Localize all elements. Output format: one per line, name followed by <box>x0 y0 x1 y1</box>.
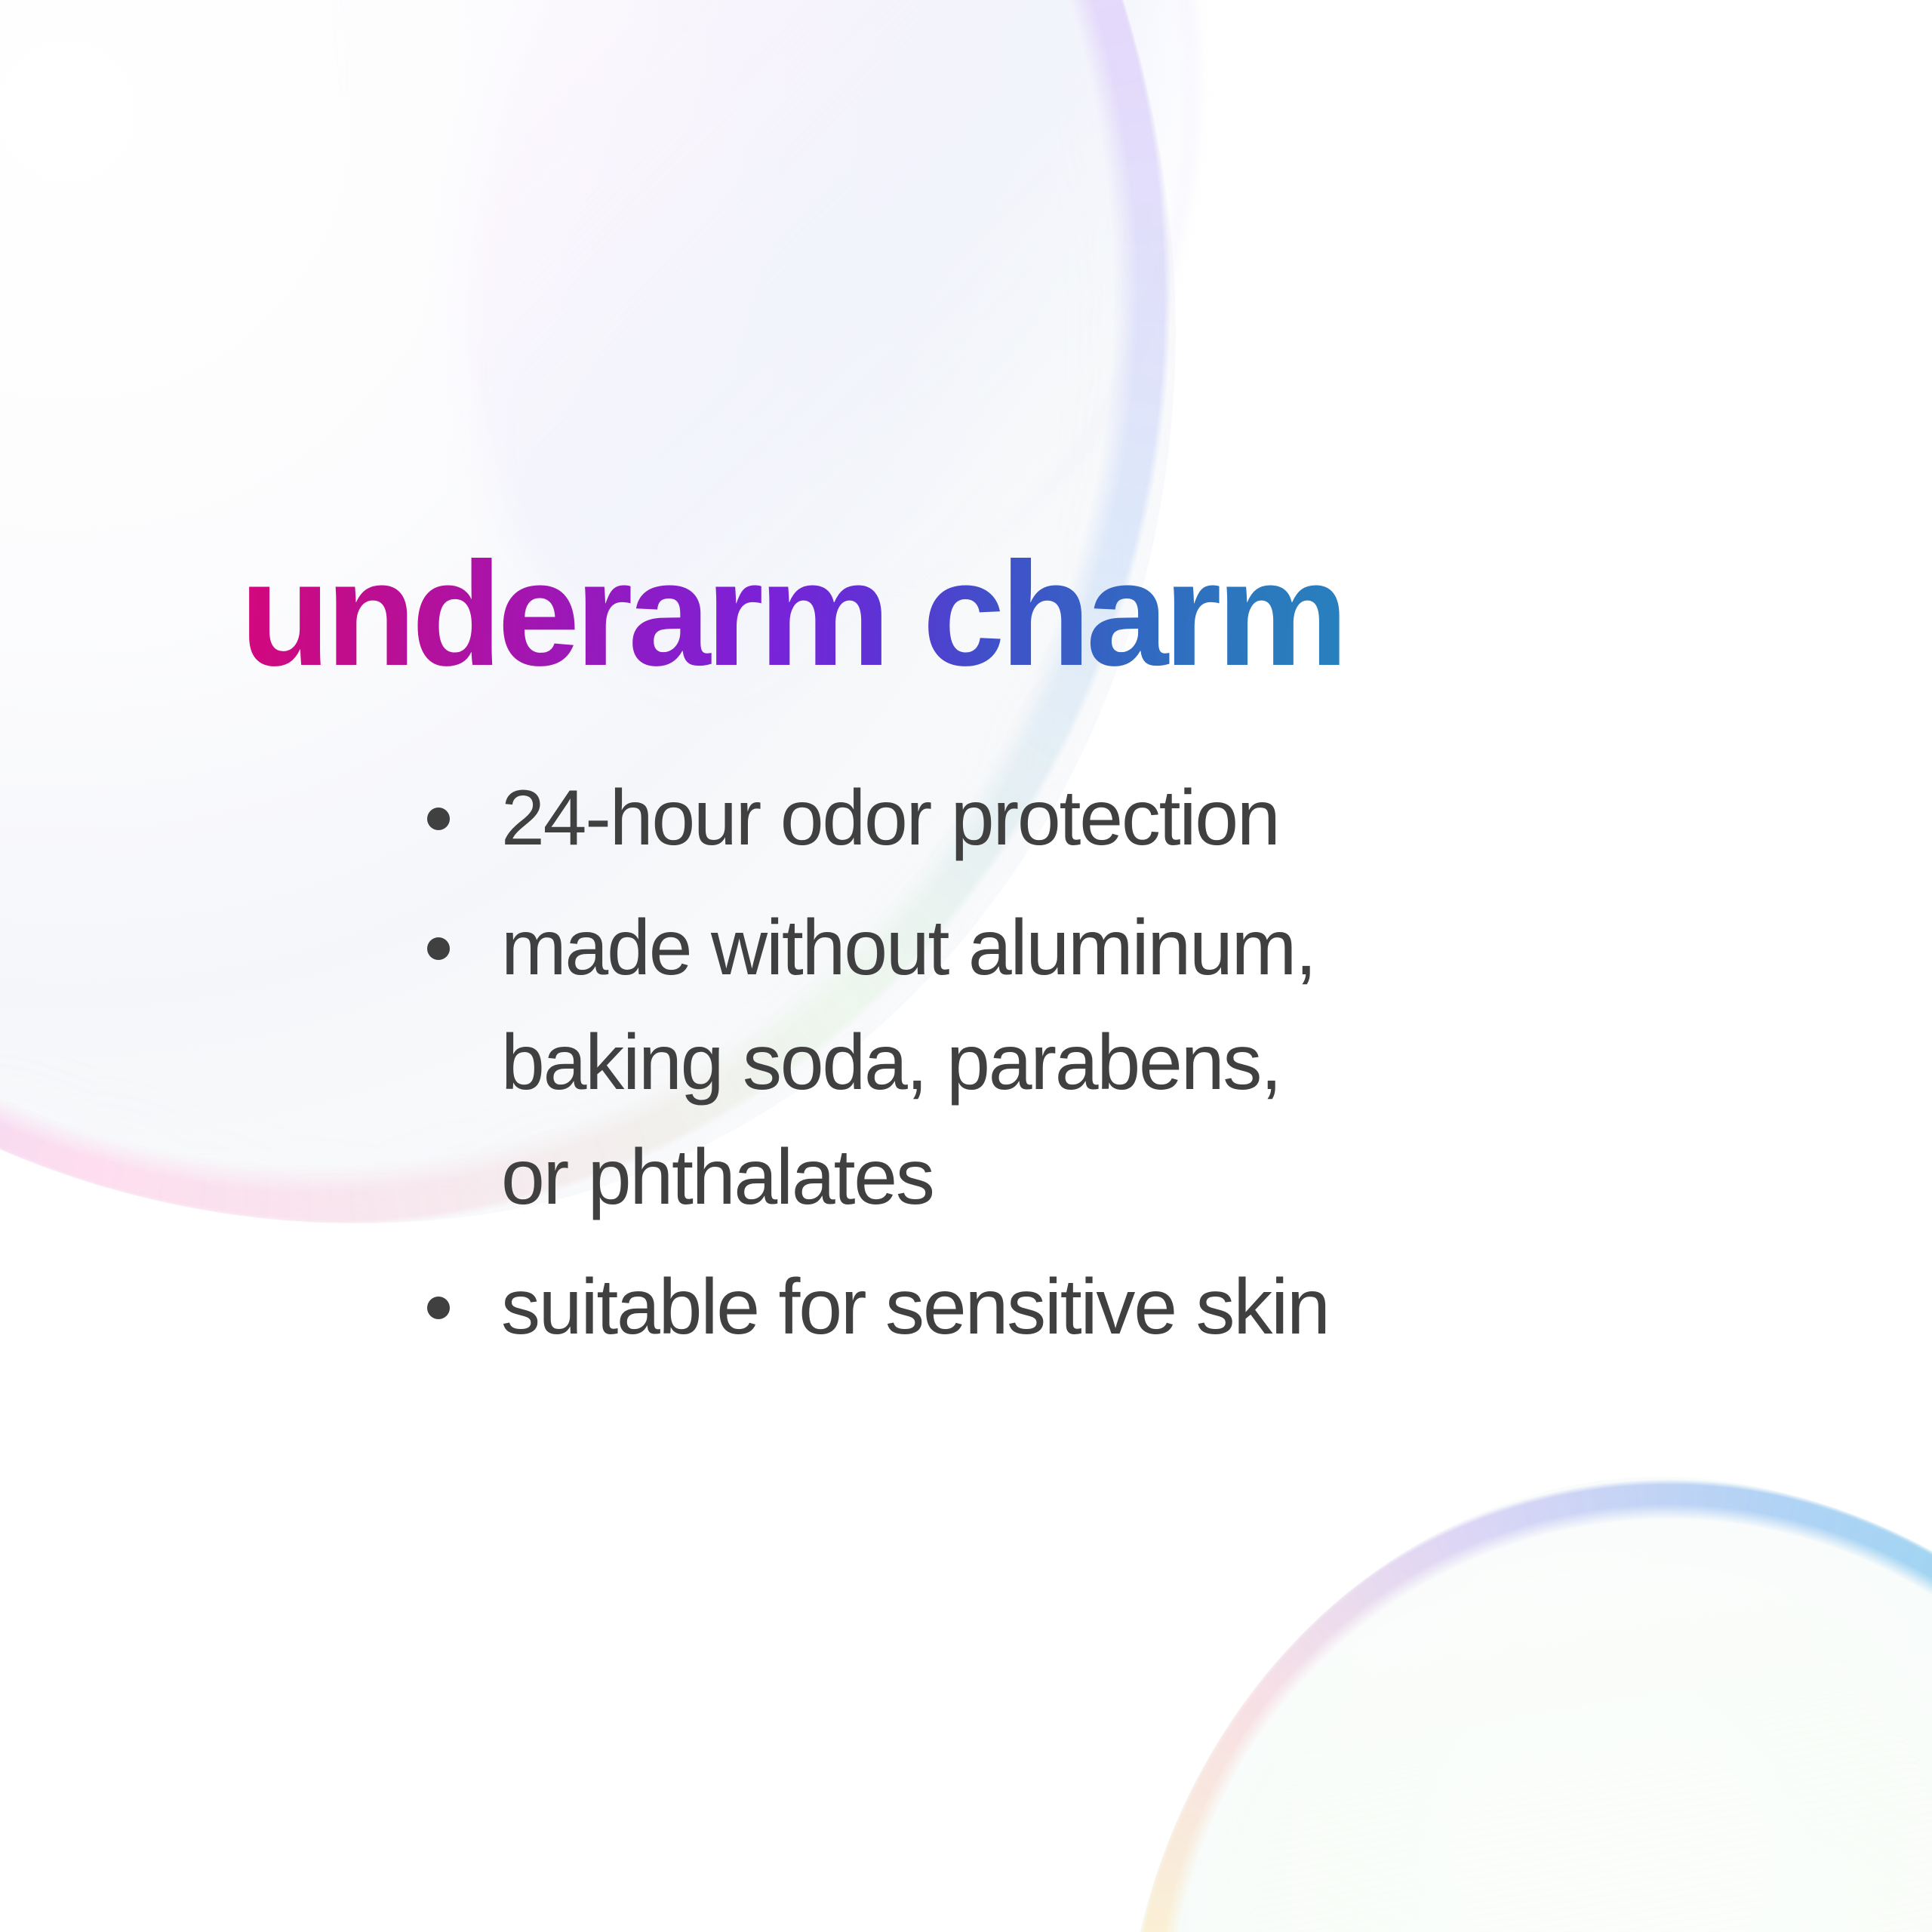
bullet-dot-icon <box>427 1297 450 1319</box>
feature-text: 24-hour odor protection <box>501 761 1772 875</box>
content-area: underarm charm 24-hour odor protection m… <box>0 0 1932 1932</box>
list-item: suitable for sensitive skin <box>414 1250 1772 1364</box>
feature-list: 24-hour odor protection made without alu… <box>414 761 1772 1380</box>
list-item: 24-hour odor protection <box>414 761 1772 875</box>
bullet-dot-icon <box>427 808 450 830</box>
list-item: made without aluminum, baking soda, para… <box>414 891 1772 1235</box>
product-feature-card: underarm charm 24-hour odor protection m… <box>0 0 1932 1932</box>
page-title: underarm charm <box>240 540 1344 688</box>
feature-text: suitable for sensitive skin <box>501 1250 1772 1364</box>
bullet-dot-icon <box>427 937 450 960</box>
feature-text: made without aluminum, baking soda, para… <box>501 891 1772 1235</box>
